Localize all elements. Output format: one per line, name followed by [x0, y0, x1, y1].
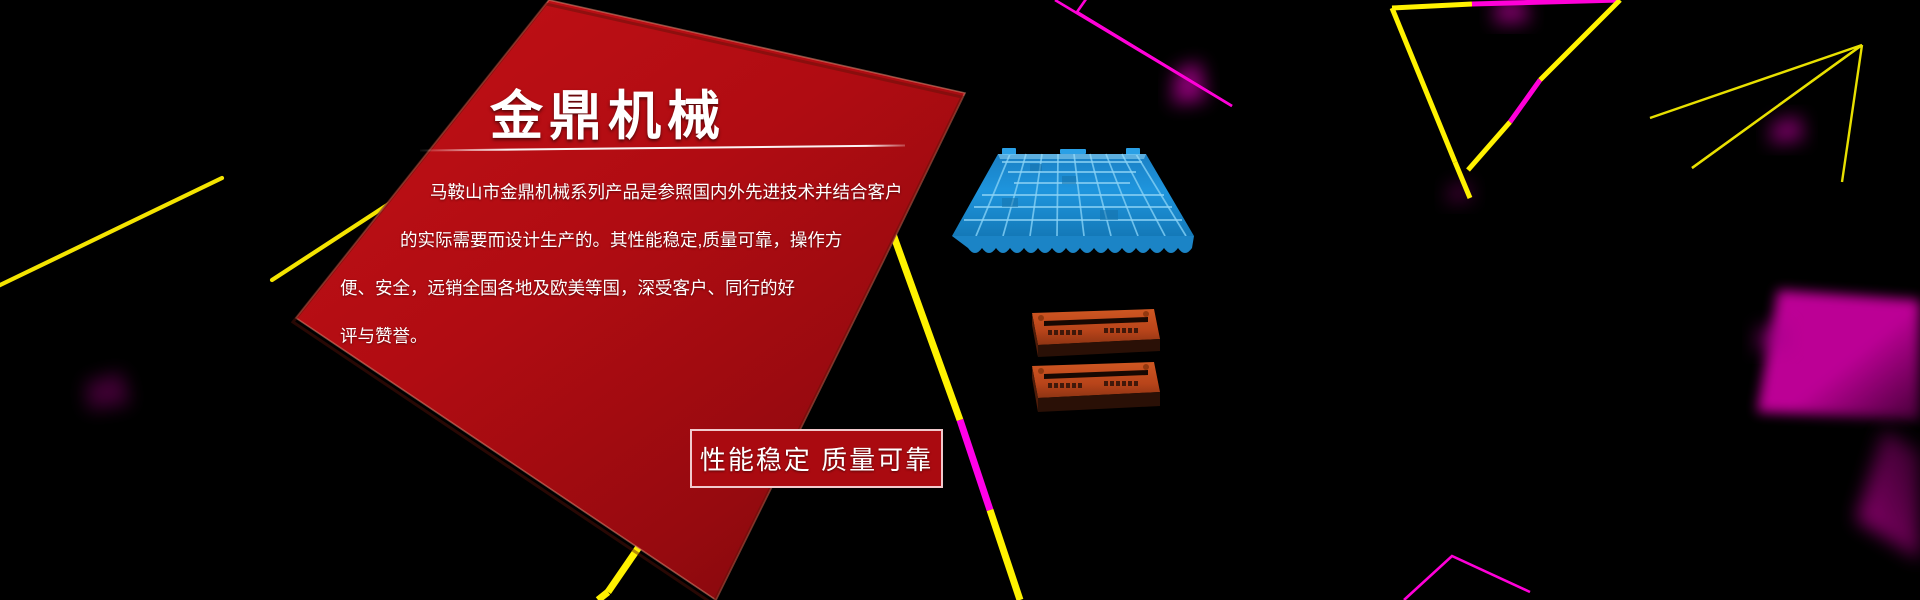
description-line-1: 马鞍山市金鼎机械系列产品是参照国内外先进技术并结合客户 [318, 168, 938, 216]
slogan-text: 性能稳定 质量可靠 [700, 440, 933, 477]
banner-root: 金鼎机械 马鞍山市金鼎机械系列产品是参照国内外先进技术并结合客户 的实际需要而设… [0, 0, 1920, 600]
description-line-4: 评与赞誉。 [318, 312, 938, 360]
magenta-line-bottom-right [1404, 556, 1530, 600]
product-orange-machine-bed-upper [1024, 305, 1164, 360]
yellow-outline-triangle-right [1650, 45, 1862, 182]
product-blue-grid-surface-plate [940, 136, 1200, 266]
slogan-badge: 性能稳定 质量可靠 [690, 429, 943, 488]
description-line-2: 的实际需要而设计生产的。其性能稳定,质量可靠，操作方 [318, 216, 938, 264]
panel-content: 金鼎机械 马鞍山市金鼎机械系列产品是参照国内外先进技术并结合客户 的实际需要而设… [300, 0, 980, 500]
magenta-outline-triangle [1055, 0, 1232, 106]
company-description: 马鞍山市金鼎机械系列产品是参照国内外先进技术并结合客户 的实际需要而设计生产的。… [318, 168, 938, 360]
page-title: 金鼎机械 [490, 74, 950, 150]
product-orange-machine-bed-lower [1024, 358, 1164, 416]
neon-triangle-cluster-right [1392, 0, 1620, 198]
description-line-3: 便、安全，远销全国各地及欧美等国，深受客户、同行的好 [318, 264, 938, 312]
